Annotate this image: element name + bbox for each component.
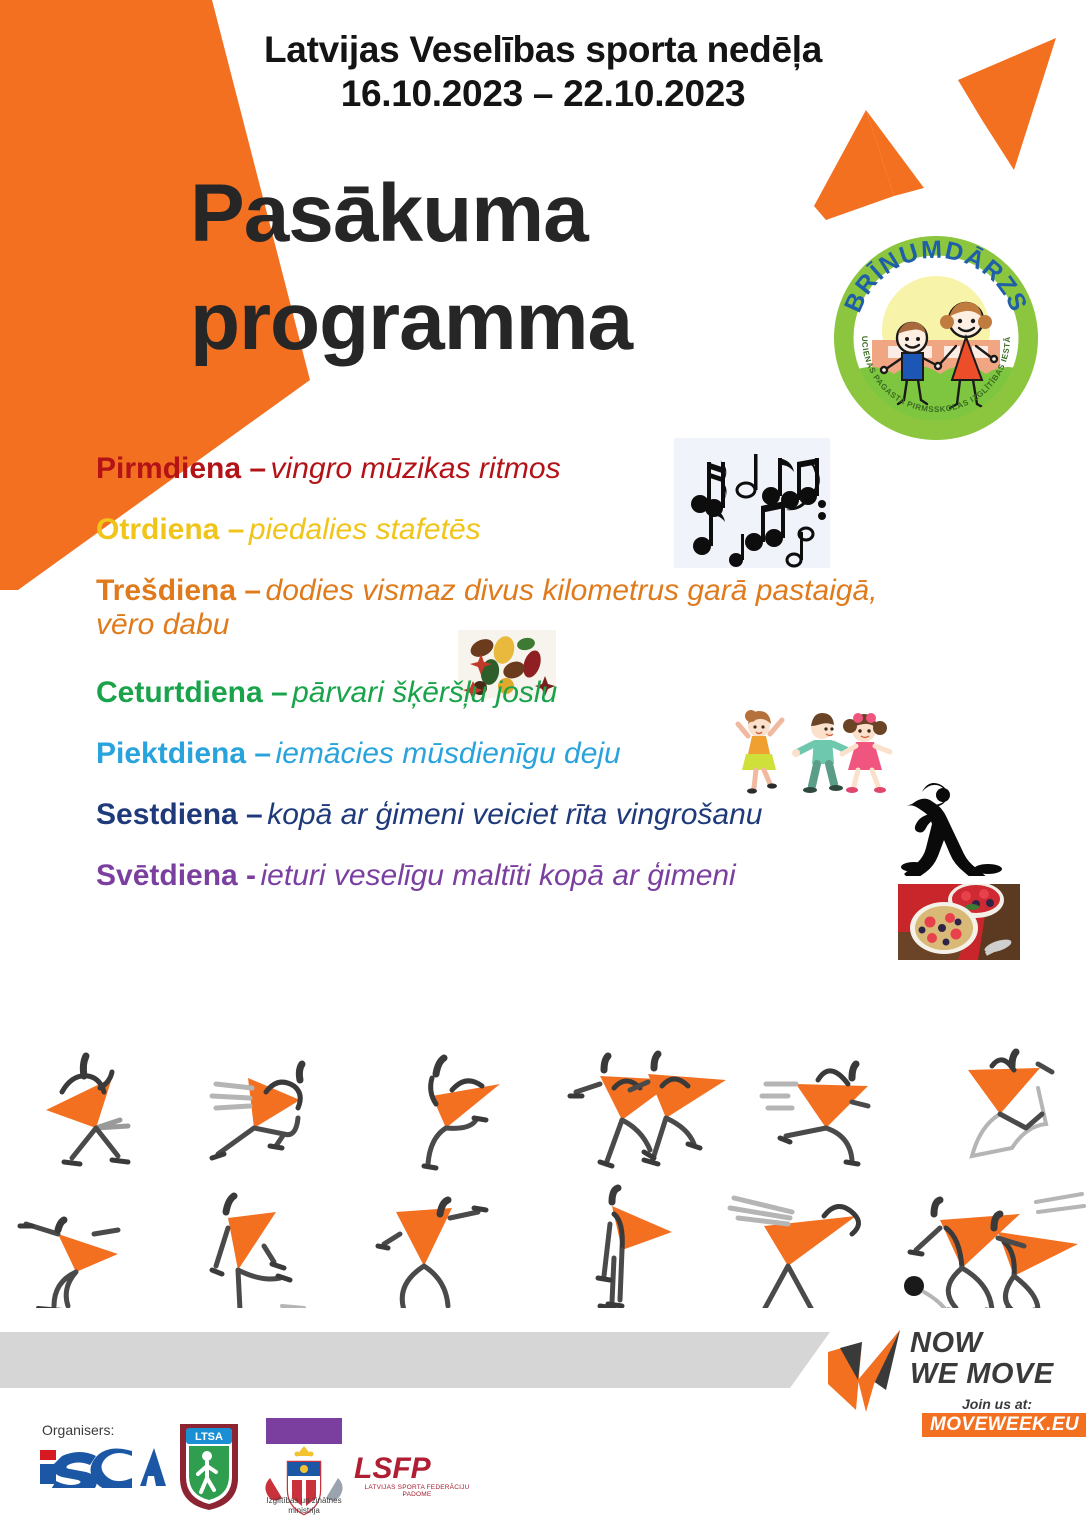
figure-nordic-walkers bbox=[570, 1054, 726, 1166]
day-activity-sunday: ieturi veselīgu maltīti kopā ar ģimeni bbox=[261, 859, 736, 892]
day-label-tuesday: Otrdiena – bbox=[96, 513, 244, 546]
isca-logo bbox=[40, 1446, 166, 1488]
figure-walker bbox=[598, 1188, 672, 1308]
day-activity-tuesday: piedalies stafetēs bbox=[249, 513, 481, 546]
izm-caption: Izglītības un zinātnes ministrija bbox=[252, 1496, 356, 1516]
day-activity-thursday: pārvari šķēršļu joslu bbox=[292, 676, 557, 709]
grey-divider-band bbox=[0, 1332, 830, 1388]
sport-stick-figures bbox=[0, 1018, 1086, 1308]
moveweek-url[interactable]: MOVEWEEK.EU bbox=[922, 1413, 1086, 1437]
figure-skateboarder-push bbox=[212, 1196, 306, 1308]
day-label-friday: Piektdiena – bbox=[96, 737, 271, 770]
figure-skater bbox=[46, 1056, 128, 1164]
day-row-tuesday: Otrdiena – piedalies stafetēs bbox=[96, 513, 996, 547]
figure-dancer bbox=[730, 1198, 859, 1308]
now-we-move-wordmark: NOW WE MOVE bbox=[910, 1328, 1054, 1390]
day-label-saturday: Sestdiena – bbox=[96, 798, 263, 831]
day-activity-monday: vingro mūzikas ritmos bbox=[271, 452, 561, 485]
header-date-range: 16.10.2023 – 22.10.2023 bbox=[0, 72, 1086, 116]
day-row-thursday: Ceturtdiena – pārvari šķēršļu joslu bbox=[96, 676, 996, 710]
nwm-line-2: WE MOVE bbox=[910, 1359, 1054, 1390]
day-row-sunday: Svētdiena - ieturi veselīgu maltīti kopā… bbox=[96, 859, 996, 893]
page-title-line1: Pasākuma bbox=[190, 160, 810, 268]
lsfp-subtitle: LATVIJAS SPORTA FEDERĀCIJU PADOME bbox=[352, 1484, 482, 1498]
join-us-label: Join us at: bbox=[922, 1396, 1072, 1412]
day-activity-saturday: kopā ar ģimeni veiciet rīta vingrošanu bbox=[267, 798, 762, 831]
ltsa-logo-text: LTSA bbox=[195, 1431, 223, 1443]
day-label-monday: Pirmdiena – bbox=[96, 452, 266, 485]
day-label-sunday: Svētdiena - bbox=[96, 859, 256, 892]
program-day-list: Pirmdiena – vingro mūzikas ritmos Otrdie… bbox=[96, 452, 996, 920]
day-label-thursday: Ceturtdiena – bbox=[96, 676, 288, 709]
now-we-move-logo: NOW WE MOVE Join us at: MOVEWEEK.EU bbox=[826, 1318, 1076, 1438]
figure-climber bbox=[968, 1052, 1052, 1156]
poster-canvas: Latvijas Veselības sporta nedēļa 16.10.2… bbox=[0, 0, 1086, 1536]
organisers-label: Organisers: bbox=[42, 1422, 114, 1438]
now-we-move-join: Join us at: MOVEWEEK.EU bbox=[922, 1396, 1072, 1437]
nwm-line-1: NOW bbox=[910, 1328, 1054, 1359]
figure-footballers bbox=[904, 1194, 1084, 1308]
day-row-monday: Pirmdiena – vingro mūzikas ritmos bbox=[96, 452, 996, 486]
figure-hurdler bbox=[424, 1058, 500, 1168]
day-row-wednesday: Trešdiena – dodies vismaz divus kilometr… bbox=[96, 574, 886, 642]
day-label-wednesday: Trešdiena – bbox=[96, 574, 261, 607]
day-row-saturday: Sestdiena – kopā ar ģimeni veiciet rīta … bbox=[96, 798, 996, 832]
figure-runner bbox=[762, 1064, 868, 1164]
ltsa-logo: LTSA bbox=[176, 1420, 242, 1512]
day-row-friday: Piektdiena – iemācies mūsdienīgu deju bbox=[96, 737, 996, 771]
figure-sprinter bbox=[212, 1064, 302, 1158]
day-activity-friday: iemācies mūsdienīgu deju bbox=[276, 737, 621, 770]
page-title-line2: programma bbox=[190, 268, 810, 376]
brinumdarzs-logo: BRĪNUMDĀRZS LAUCIENAS PAGASTA PIRMSSKOLA… bbox=[832, 234, 1040, 442]
figure-skateboarder-crouch bbox=[20, 1220, 118, 1308]
poster-header: Latvijas Veselības sporta nedēļa 16.10.2… bbox=[0, 28, 1086, 116]
figure-skateboarder-jump bbox=[378, 1200, 486, 1308]
header-event-name: Latvijas Veselības sporta nedēļa bbox=[0, 28, 1086, 72]
page-title: Pasākuma programma bbox=[190, 160, 810, 376]
lsfp-logo-text: LSFP bbox=[354, 1452, 432, 1485]
now-we-move-mark-icon bbox=[826, 1324, 902, 1416]
